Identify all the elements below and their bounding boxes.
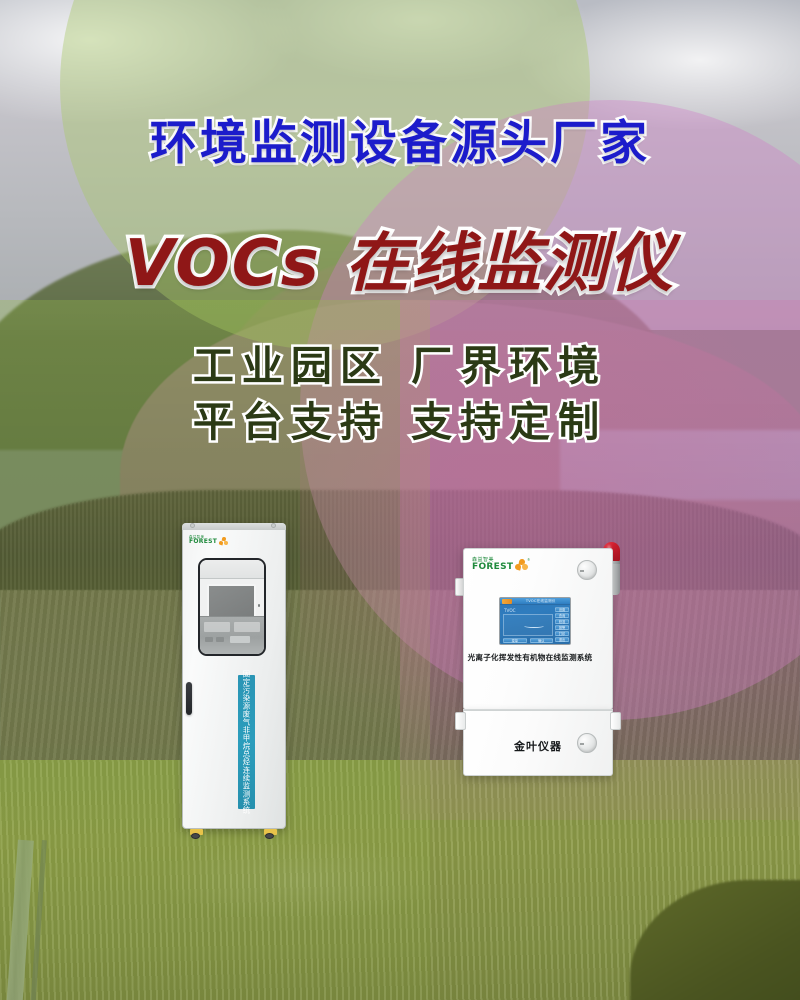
screen-side-button[interactable]: 打印 [555, 631, 569, 636]
screen-app-icon [502, 599, 512, 604]
device-caption: 光离子化挥发性有机物在线监测系统 [455, 652, 605, 663]
cabinet-brand-logo: 森益智美 FOREST [189, 536, 234, 550]
cabinet-logo-en: FOREST [189, 539, 217, 546]
flower-leaf-icon: ® [515, 559, 530, 573]
screen-side-button[interactable]: 报警 [555, 625, 569, 630]
page-headline: 环境监测设备源头厂家 [0, 104, 800, 173]
cabinet-lift-eye-right [271, 523, 276, 528]
cabinet-caster-left [190, 829, 203, 839]
cabinet-label-text: 固定污染源废气非甲烷总烃连续监测系统 [241, 670, 252, 814]
cabinet-caster-right [264, 829, 277, 839]
cabinet-vertical-label: 固定污染源废气非甲烷总烃连续监测系统 [238, 675, 255, 809]
cabinet-display-screen [207, 584, 256, 619]
screen-side-button[interactable]: 设置 [555, 607, 569, 612]
cabinet-lift-eye-left [190, 523, 195, 528]
cabinet-control-panel[interactable] [200, 616, 264, 654]
registered-mark: ® [527, 558, 530, 562]
subtitle-line-2: 平台支持 支持定制 [0, 388, 800, 448]
device-lower-text-area: 金叶仪器 [463, 710, 613, 776]
poster-canvas: 环境监测设备源头厂家 VOCs 在线监测仪 工业园区 厂界环境 平台支持 支持定… [0, 0, 800, 1000]
screen-side-button[interactable]: 校准 [555, 619, 569, 624]
wall-mount-voc-analyzer: 森益智美 FOREST ® TVOC在线监测仪 TVOC [455, 540, 621, 780]
cabinet-viewing-window [198, 558, 266, 656]
subtitle-line-1: 工业园区 厂界环境 [0, 332, 800, 392]
cabinet-analyzer: 森益智美 FOREST [177, 517, 291, 839]
screen-channel-label: TVOC [504, 608, 516, 613]
device-brand-name: 金叶仪器 [463, 738, 613, 754]
screen-bottom-button[interactable]: 确认 [530, 638, 554, 643]
screen-title-text: TVOC在线监测仪 [512, 599, 571, 604]
device-knob-top[interactable] [577, 560, 597, 580]
page-title: VOCs 在线监测仪 [0, 212, 800, 304]
device-touchscreen[interactable]: TVOC在线监测仪 TVOC 设置 查询 校准 报警 打印 退出 菜单 确认 [499, 597, 571, 645]
cabinet-window-header [200, 560, 264, 579]
screen-side-button-group: 设置 查询 校准 报警 打印 退出 [555, 607, 569, 642]
screen-side-button[interactable]: 退出 [555, 637, 569, 642]
device-brand-logo: 森益智美 FOREST ® [472, 558, 530, 577]
flower-leaf-icon [219, 537, 229, 546]
screen-bottom-button[interactable]: 菜单 [503, 638, 527, 643]
screen-bottom-button-group: 菜单 确认 [503, 638, 553, 643]
screen-side-button[interactable]: 查询 [555, 613, 569, 618]
cabinet-door-handle[interactable] [186, 682, 192, 715]
cabinet-status-led [258, 604, 261, 607]
screen-title-bar: TVOC在线监测仪 [500, 598, 570, 605]
device-logo-en: FOREST [472, 563, 513, 573]
screen-trend-plot [503, 614, 553, 636]
